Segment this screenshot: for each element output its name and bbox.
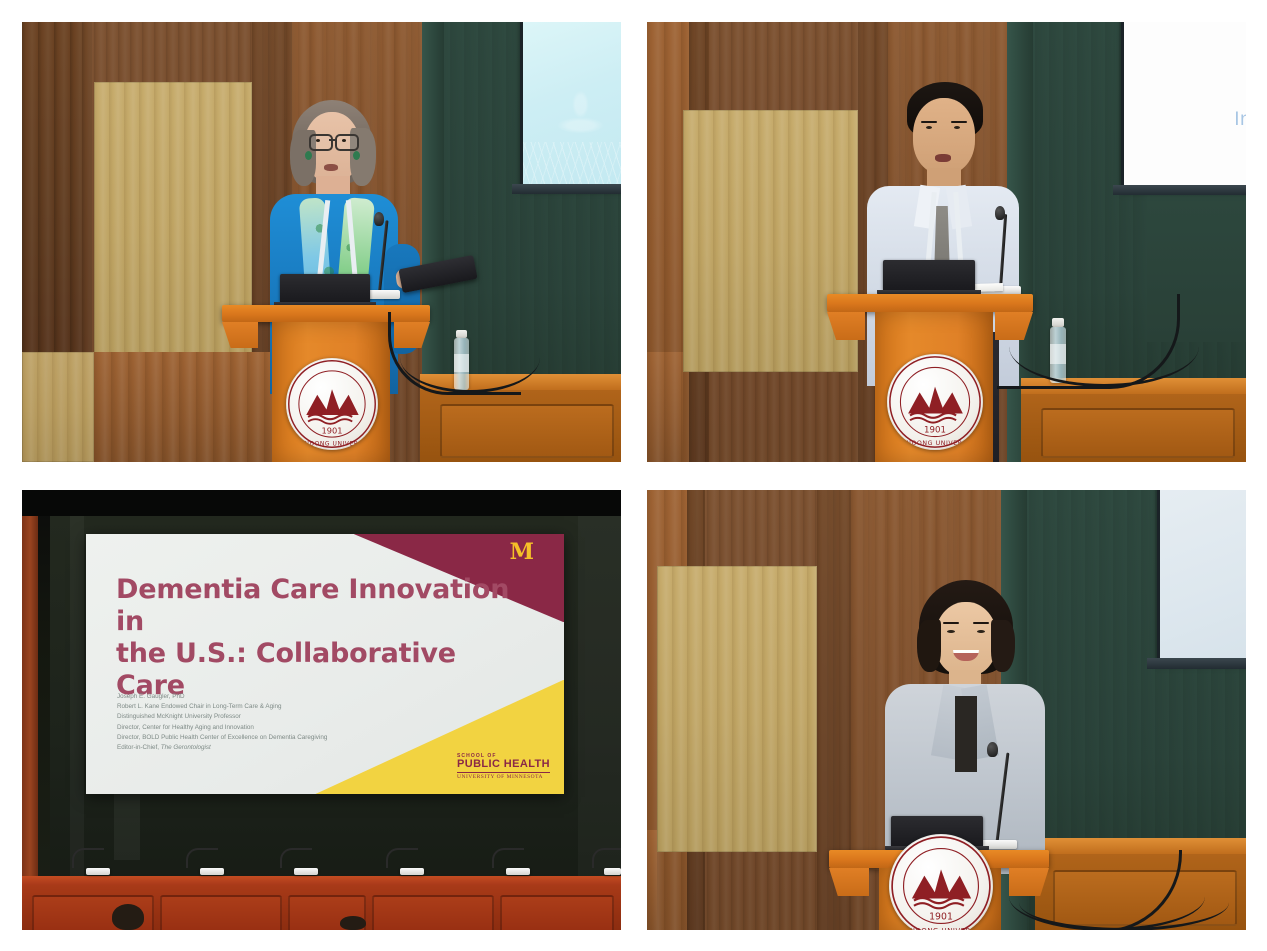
shandong-university-emblem: 1901 SHANDONG UNIVERSITY <box>286 358 378 450</box>
screen-partial-text: Inte <box>1234 109 1246 131</box>
eye-left <box>947 630 955 633</box>
desk-mic-arm-1 <box>72 848 104 868</box>
shandong-university-emblem: 1901 SHANDONG UNIVERSITY <box>887 354 983 450</box>
projection-screen-surface: Inte <box>1124 22 1246 188</box>
eyebrow-right <box>951 121 967 123</box>
speaker-hair-left <box>917 620 941 672</box>
desk-panel-2 <box>160 895 282 930</box>
sph-line-2: PUBLIC HEALTH <box>457 759 550 771</box>
projection-screen-surface <box>523 22 621 187</box>
desk-mic-base-5 <box>506 868 530 875</box>
photo-panel-bottom-right[interactable]: 1901 SHANDONG UNIVERSITY <box>647 490 1246 930</box>
eyebrow-left <box>943 622 959 624</box>
side-table-panel <box>1041 408 1235 458</box>
stage-wall-seam-c <box>578 516 621 888</box>
byline-line-5: Director, BOLD Public Health Center of E… <box>117 733 407 743</box>
desk-mic-arm-5 <box>492 848 524 868</box>
side-table-panel <box>440 404 614 458</box>
laptop-screen <box>883 260 975 290</box>
desk-mic-arm-4 <box>386 848 418 868</box>
slide-byline: Joseph E. Gaugler, PhD Robert L. Kane En… <box>117 692 407 753</box>
projection-screen-lip <box>1147 658 1246 669</box>
mouth <box>324 164 338 171</box>
desk-mic-arm-6 <box>592 848 621 868</box>
projection-screen-frame: Inte <box>1121 22 1246 191</box>
speaker-hair-right <box>991 620 1015 672</box>
photo-panel-bottom-left[interactable]: M Dementia Care Innovation in the U.S.: … <box>22 490 621 930</box>
eye-right <box>977 630 985 633</box>
wood-panel-center <box>657 566 817 852</box>
screen-watermark-graphic <box>548 87 613 149</box>
mouth <box>935 154 951 162</box>
front-desk-top-edge <box>22 876 621 885</box>
shandong-university-emblem: 1901 SHANDONG UNIVERSITY <box>889 834 993 930</box>
cable-run-3 <box>1019 874 1229 930</box>
svg-text:1901: 1901 <box>924 426 946 436</box>
desk-mic-base-2 <box>200 868 224 875</box>
desk-mic-base-1 <box>86 868 110 875</box>
wood-base-left <box>22 352 94 462</box>
stage-trim-left <box>22 516 38 888</box>
audience-head-2 <box>340 916 366 930</box>
blazer-inner-blouse <box>955 696 977 772</box>
glasses-bridge <box>329 139 335 141</box>
byline-editor-prefix: Editor-in-Chief, <box>117 744 161 751</box>
wood-panel-center <box>683 110 858 372</box>
photo-collage: 1901 SHANDONG UNIVERSITY Inte <box>0 0 1267 951</box>
byline-line-6: Editor-in-Chief, The Gerontologist <box>117 743 407 753</box>
screen-mesh-graphic <box>523 142 621 187</box>
wood-column-left <box>22 22 82 352</box>
projection-screen-lip <box>1113 185 1246 195</box>
cable-run-2 <box>1009 306 1199 387</box>
presentation-slide: M Dementia Care Innovation in the U.S.: … <box>86 534 564 794</box>
projection-screen-surface <box>1160 490 1246 661</box>
desk-panel-5 <box>500 895 614 930</box>
eyebrow-left <box>921 121 937 123</box>
earring-right <box>353 151 360 160</box>
eye-left <box>316 139 320 142</box>
desk-mic-arm-3 <box>280 848 312 868</box>
desk-panel-4 <box>372 895 494 930</box>
projection-screen-frame <box>520 22 621 190</box>
earring-left <box>305 151 312 160</box>
speaker-head <box>913 98 975 174</box>
byline-line-1: Joseph E. Gaugler, PhD <box>117 692 407 702</box>
school-of-public-health-logo: SCHOOL OF PUBLIC HEALTH UNIVERSITY OF MI… <box>457 753 550 780</box>
wood-base-left <box>647 830 657 930</box>
sph-line-3: UNIVERSITY OF MINNESOTA <box>457 772 550 780</box>
desk-mic-base-3 <box>294 868 318 875</box>
microphone-head <box>987 742 998 757</box>
glasses-left-lens <box>309 134 333 151</box>
laptop-screen <box>280 274 370 302</box>
wood-base-left <box>647 352 683 462</box>
slide-title-line-1: Dementia Care Innovation in <box>116 574 516 638</box>
eye-right <box>342 139 346 142</box>
byline-line-2: Robert L. Kane Endowed Chair in Long-Ter… <box>117 702 407 712</box>
svg-text:1901: 1901 <box>929 911 953 922</box>
university-m-logo: M <box>510 541 534 563</box>
microphone-head <box>374 212 384 226</box>
stage-wall-seam-a <box>70 516 84 888</box>
slide-title: Dementia Care Innovation in the U.S.: Co… <box>116 574 516 701</box>
wood-seam-a <box>82 22 92 352</box>
glasses-right-lens <box>335 134 359 151</box>
microphone-head <box>995 206 1005 220</box>
byline-line-3: Distinguished McKnight University Profes… <box>117 712 407 722</box>
byline-line-4: Director, Center for Healthy Aging and I… <box>117 723 407 733</box>
projection-screen-frame <box>1157 490 1246 664</box>
projection-screen-lip <box>512 184 621 194</box>
audience-head-1 <box>112 904 144 930</box>
eye-right <box>954 126 960 129</box>
desk-mic-base-4 <box>400 868 424 875</box>
cable-run-2 <box>400 322 540 393</box>
desk-mic-arm-2 <box>186 848 218 868</box>
ceiling-band <box>22 490 621 516</box>
photo-panel-top-right[interactable]: Inte <box>647 22 1246 462</box>
svg-text:1901: 1901 <box>321 425 342 435</box>
photo-panel-top-left[interactable]: 1901 SHANDONG UNIVERSITY <box>22 22 621 462</box>
desk-mic-base-6 <box>604 868 621 875</box>
eye-left <box>926 126 932 129</box>
byline-journal-title: The Gerontologist <box>161 744 211 751</box>
speaker-head <box>935 602 997 676</box>
eyebrow-right <box>973 622 989 624</box>
